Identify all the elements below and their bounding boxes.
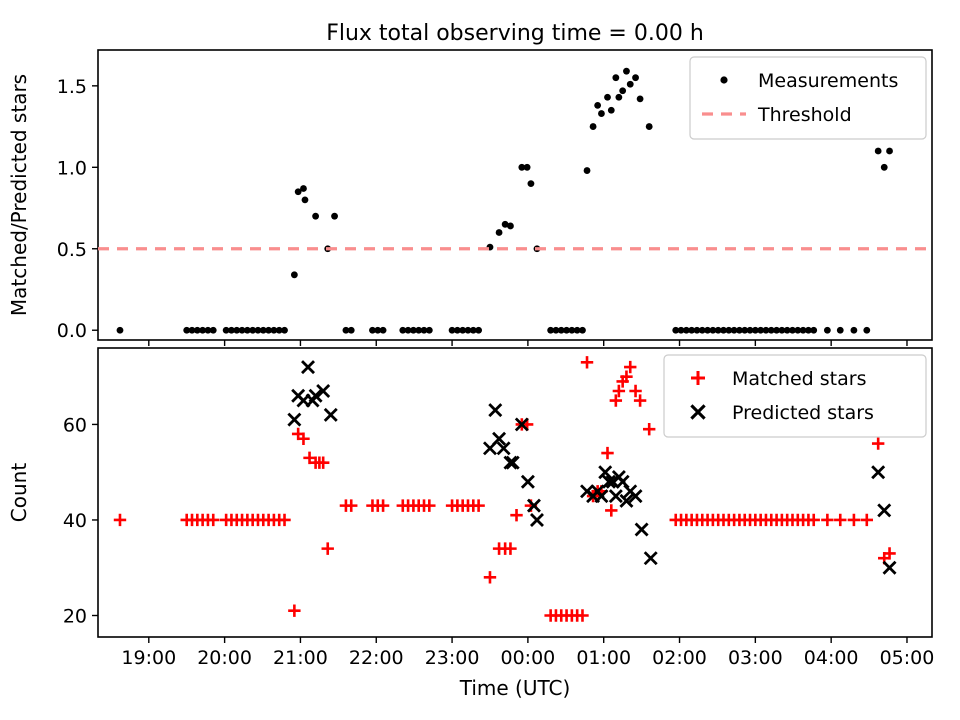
data-point — [210, 327, 217, 334]
predicted-star-marker — [872, 466, 884, 478]
predicted-star-marker — [878, 504, 890, 516]
y-tick-label: 40 — [63, 510, 87, 532]
predicted-star-marker — [884, 562, 896, 574]
data-point — [281, 327, 288, 334]
legend-label: Predicted stars — [732, 402, 874, 424]
data-point — [615, 94, 622, 101]
matched-star-marker — [821, 514, 833, 526]
data-point — [300, 185, 307, 192]
data-point — [604, 94, 611, 101]
matched-star-marker — [605, 504, 617, 516]
data-point — [507, 223, 514, 230]
data-point — [426, 327, 433, 334]
data-point — [496, 229, 503, 236]
x-tick-label: 00:00 — [501, 647, 556, 669]
predicted-star-marker — [288, 414, 300, 426]
data-point — [632, 74, 639, 81]
data-point — [824, 327, 831, 334]
data-point — [524, 164, 531, 171]
data-point — [584, 167, 591, 174]
data-point — [528, 180, 535, 187]
predicted-star-marker — [302, 361, 314, 373]
legend-label: Measurements — [758, 70, 898, 92]
data-point — [590, 123, 597, 130]
x-tick-label: 01:00 — [576, 647, 631, 669]
data-point — [637, 95, 644, 102]
legend-label: Matched stars — [732, 368, 866, 390]
matched-star-marker — [581, 356, 593, 368]
matched-star-marker — [872, 437, 884, 449]
figure-title: Flux total observing time = 0.00 h — [326, 21, 704, 46]
matched-star-marker — [288, 605, 300, 617]
data-point — [380, 327, 387, 334]
x-tick-label: 23:00 — [425, 647, 480, 669]
data-point — [810, 327, 817, 334]
legend: MeasurementsThreshold — [690, 57, 926, 139]
x-tick-label: 04:00 — [804, 647, 859, 669]
matched-star-marker — [114, 514, 126, 526]
data-point — [291, 271, 298, 278]
y-tick-label: 0.5 — [57, 239, 87, 261]
x-tick-label: 02:00 — [652, 647, 707, 669]
data-point — [579, 327, 586, 334]
matched-star-marker — [643, 423, 655, 435]
data-point — [331, 213, 338, 220]
x-tick-label: 21:00 — [273, 647, 328, 669]
data-point — [646, 123, 653, 130]
data-point — [863, 327, 870, 334]
figure-canvas: Flux total observing time = 0.00 h 0.00.… — [0, 0, 960, 720]
data-point — [881, 164, 888, 171]
y-tick-label: 1.0 — [57, 157, 87, 179]
predicted-star-marker — [522, 476, 534, 488]
matched-star-marker — [510, 509, 522, 521]
matched-star-marker — [484, 571, 496, 583]
predicted-star-marker — [489, 404, 501, 416]
data-point — [619, 87, 626, 94]
y-tick-label: 60 — [63, 414, 87, 436]
matched-star-marker — [601, 447, 613, 459]
data-point — [623, 68, 630, 75]
matched-star-marker — [834, 514, 846, 526]
x-tick-label: 03:00 — [728, 647, 783, 669]
data-point — [475, 327, 482, 334]
matched-star-marker — [322, 542, 334, 554]
data-point — [312, 213, 319, 220]
matched-star-marker — [848, 514, 860, 526]
predicted-star-marker — [645, 552, 657, 564]
data-point — [608, 107, 615, 114]
predicted-star-marker — [325, 409, 337, 421]
legend: Matched starsPredicted stars — [664, 355, 926, 437]
x-tick-label: 22:00 — [349, 647, 404, 669]
predicted-star-marker — [636, 524, 648, 536]
plot-svg: Flux total observing time = 0.00 h 0.00.… — [0, 0, 960, 720]
predicted-star-marker — [531, 514, 543, 526]
top-panel: 0.00.51.01.5Matched/Predicted starsMeasu… — [7, 50, 932, 346]
data-point — [117, 327, 124, 334]
data-point — [875, 148, 882, 155]
data-point — [627, 81, 634, 88]
y-tick-label: 20 — [63, 606, 87, 628]
x-tick-label: 05:00 — [880, 647, 935, 669]
data-point — [598, 110, 605, 117]
data-point — [594, 102, 601, 109]
legend-label: Threshold — [757, 104, 852, 126]
data-point — [348, 327, 355, 334]
matched-star-marker — [861, 514, 873, 526]
data-point — [851, 327, 858, 334]
data-point — [837, 327, 844, 334]
y-tick-label: 0.0 — [57, 320, 87, 342]
x-axis-label: Time (UTC) — [459, 676, 571, 700]
data-point — [302, 196, 309, 203]
y-axis-label: Matched/Predicted stars — [7, 74, 31, 316]
legend-marker-measurements — [720, 76, 727, 83]
matched-star-marker — [610, 394, 622, 406]
x-tick-label: 19:00 — [121, 647, 176, 669]
bottom-panel: 20406019:0020:0021:0022:0023:0000:0001:0… — [7, 348, 934, 700]
x-tick-label: 20:00 — [197, 647, 252, 669]
y-tick-label: 1.5 — [57, 76, 87, 98]
data-point — [886, 148, 893, 155]
data-point — [612, 74, 619, 81]
y-axis-label: Count — [7, 463, 31, 523]
